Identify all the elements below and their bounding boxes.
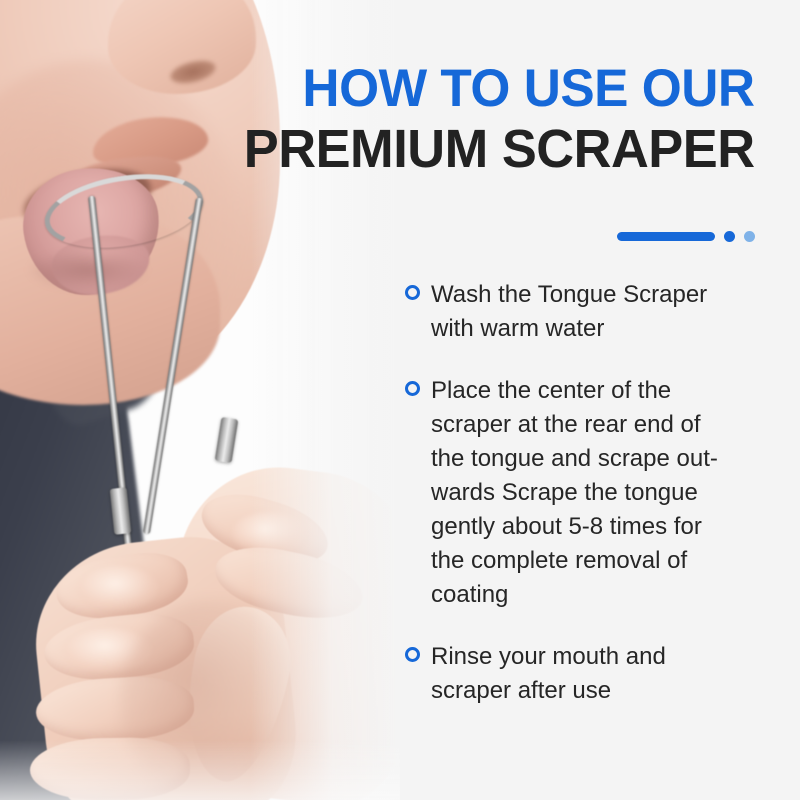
headline-line-2: PREMIUM SCRAPER: [244, 122, 755, 176]
divider-bar: [617, 232, 715, 241]
circle-outline-bullet-icon: [405, 285, 420, 300]
knuckle-highlight: [80, 566, 158, 610]
page-title: HOW TO USE OUR PREMIUM SCRAPER: [228, 62, 755, 176]
divider-dot-light: [744, 231, 755, 242]
tongue-shadow: [28, 250, 148, 290]
list-item-label: Rinse your mouth and scraper after use: [431, 640, 777, 708]
decorative-divider: [617, 231, 755, 242]
list-item-label: Place the center of the scraper at the r…: [431, 374, 777, 612]
list-item: Place the center of the scraper at the r…: [405, 374, 777, 612]
divider-dot-solid: [724, 231, 735, 242]
circle-outline-bullet-icon: [405, 647, 420, 662]
instruction-list: Wash the Tongue Scraper with warm water …: [405, 278, 777, 708]
headline-line-1: HOW TO USE OUR: [244, 62, 755, 115]
infographic-poster: HOW TO USE OUR PREMIUM SCRAPER Wash the …: [0, 0, 800, 800]
circle-outline-bullet-icon: [405, 381, 420, 396]
content-column: HOW TO USE OUR PREMIUM SCRAPER Wash the …: [210, 0, 800, 800]
list-item: Rinse your mouth and scraper after use: [405, 640, 777, 708]
list-item-label: Wash the Tongue Scraper with warm water: [431, 278, 777, 346]
list-item: Wash the Tongue Scraper with warm water: [405, 278, 777, 346]
